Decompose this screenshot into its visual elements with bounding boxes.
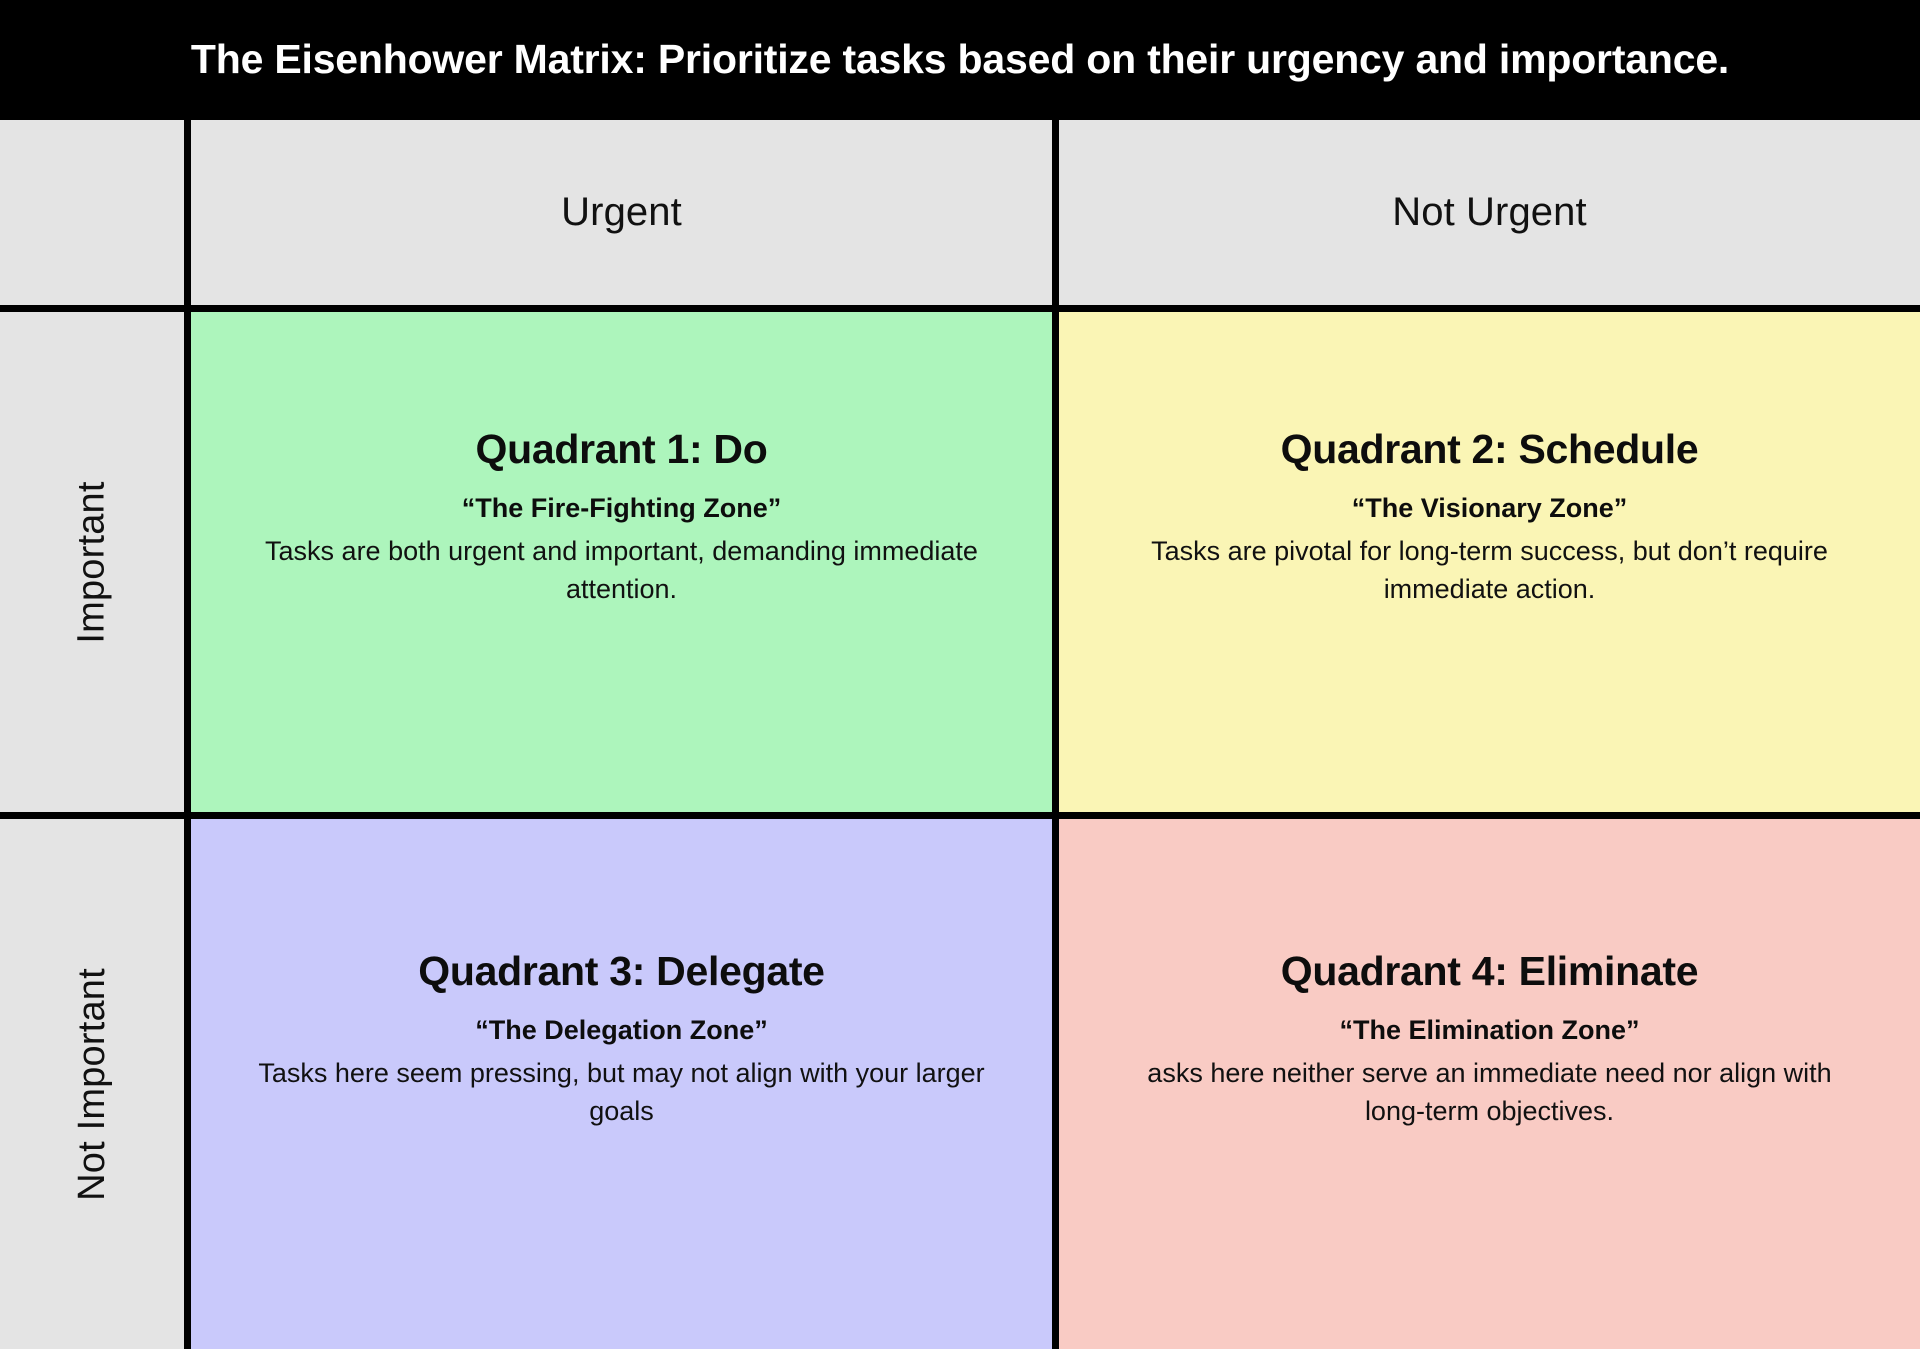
column-header-urgent: Urgent bbox=[191, 120, 1052, 305]
column-header-not-urgent: Not Urgent bbox=[1059, 120, 1920, 305]
quadrant-2-subtitle: “The Visionary Zone” bbox=[1352, 492, 1628, 526]
quadrant-4-eliminate[interactable]: Quadrant 4: Eliminate “The Elimination Z… bbox=[1059, 819, 1920, 1349]
quadrant-3-delegate[interactable]: Quadrant 3: Delegate “The Delegation Zon… bbox=[191, 819, 1052, 1349]
quadrant-3-title: Quadrant 3: Delegate bbox=[418, 949, 824, 994]
quadrant-3-description: Tasks here seem pressing, but may not al… bbox=[251, 1054, 991, 1131]
matrix-header-row: Urgent Not Urgent bbox=[0, 120, 1920, 305]
column-header-not-urgent-label: Not Urgent bbox=[1392, 190, 1586, 235]
quadrant-4-subtitle: “The Elimination Zone” bbox=[1339, 1014, 1639, 1048]
quadrant-4-description: asks here neither serve an immediate nee… bbox=[1119, 1054, 1859, 1131]
title-bar: The Eisenhower Matrix: Prioritize tasks … bbox=[0, 0, 1920, 120]
quadrant-1-do[interactable]: Quadrant 1: Do “The Fire-Fighting Zone” … bbox=[191, 312, 1052, 812]
row-header-important: Important bbox=[0, 312, 184, 812]
quadrant-2-description: Tasks are pivotal for long-term success,… bbox=[1119, 532, 1859, 609]
quadrant-1-subtitle: “The Fire-Fighting Zone” bbox=[462, 492, 781, 526]
quadrant-1-title: Quadrant 1: Do bbox=[476, 427, 768, 472]
corner-cell bbox=[0, 120, 184, 305]
column-header-urgent-label: Urgent bbox=[561, 190, 682, 235]
row-header-not-important-label: Not Important bbox=[71, 968, 114, 1201]
matrix-row-important: Important Quadrant 1: Do “The Fire-Fight… bbox=[0, 312, 1920, 812]
quadrant-4-title: Quadrant 4: Eliminate bbox=[1281, 949, 1698, 994]
matrix-row-not-important: Not Important Quadrant 3: Delegate “The … bbox=[0, 819, 1920, 1349]
quadrant-2-schedule[interactable]: Quadrant 2: Schedule “The Visionary Zone… bbox=[1059, 312, 1920, 812]
row-header-not-important: Not Important bbox=[0, 819, 184, 1349]
quadrant-2-title: Quadrant 2: Schedule bbox=[1281, 427, 1699, 472]
row-header-important-label: Important bbox=[70, 481, 113, 643]
page-title: The Eisenhower Matrix: Prioritize tasks … bbox=[191, 36, 1729, 83]
quadrant-3-subtitle: “The Delegation Zone” bbox=[475, 1014, 768, 1048]
eisenhower-matrix: The Eisenhower Matrix: Prioritize tasks … bbox=[0, 0, 1920, 1343]
matrix-grid: Urgent Not Urgent Important Quadrant 1: … bbox=[0, 120, 1920, 1349]
quadrant-1-description: Tasks are both urgent and important, dem… bbox=[251, 532, 991, 609]
